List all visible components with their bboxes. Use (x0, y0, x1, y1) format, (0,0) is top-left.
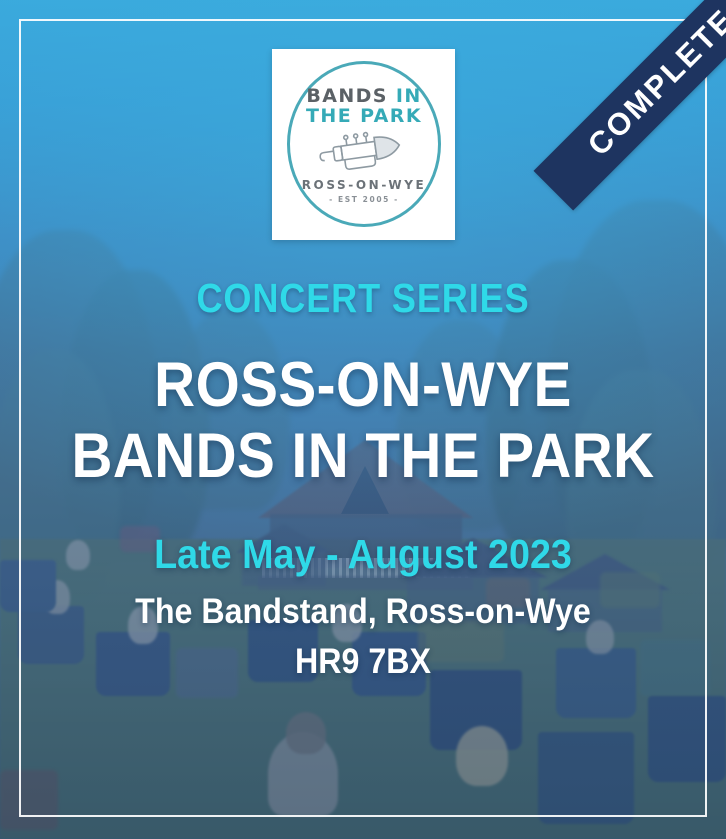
ribbon-band: COMPLETE ! (534, 0, 726, 210)
title-line-2: BANDS IN THE PARK (36, 421, 689, 492)
logo-word-in: IN (388, 85, 422, 107)
ribbon-label: COMPLETE ! (581, 0, 726, 163)
logo-word-bands: BANDS (306, 85, 388, 107)
event-poster: COMPLETE ! BANDS IN THE PARK (0, 0, 726, 839)
kicker-text: CONCERT SERIES (44, 275, 683, 322)
page-title: ROSS-ON-WYE BANDS IN THE PARK (36, 350, 689, 491)
logo-line-1: BANDS IN (306, 87, 421, 107)
logo-established: - EST 2005 - (329, 195, 399, 204)
event-dates: Late May - August 2023 (29, 531, 697, 578)
corner-ribbon: COMPLETE ! (496, 0, 726, 230)
poster-text-block: CONCERT SERIES ROSS-ON-WYE BANDS IN THE … (0, 275, 726, 682)
logo-card: BANDS IN THE PARK ROSS-ON-WYE - EST 2005… (272, 49, 455, 240)
logo-ring: BANDS IN THE PARK ROSS-ON-WYE - EST 2005… (287, 61, 441, 227)
trumpet-icon (315, 123, 413, 182)
title-line-1: ROSS-ON-WYE (154, 350, 572, 420)
event-postcode: HR9 7BX (29, 642, 697, 682)
logo-town: ROSS-ON-WYE (302, 178, 427, 192)
event-venue: The Bandstand, Ross-on-Wye (29, 592, 697, 632)
